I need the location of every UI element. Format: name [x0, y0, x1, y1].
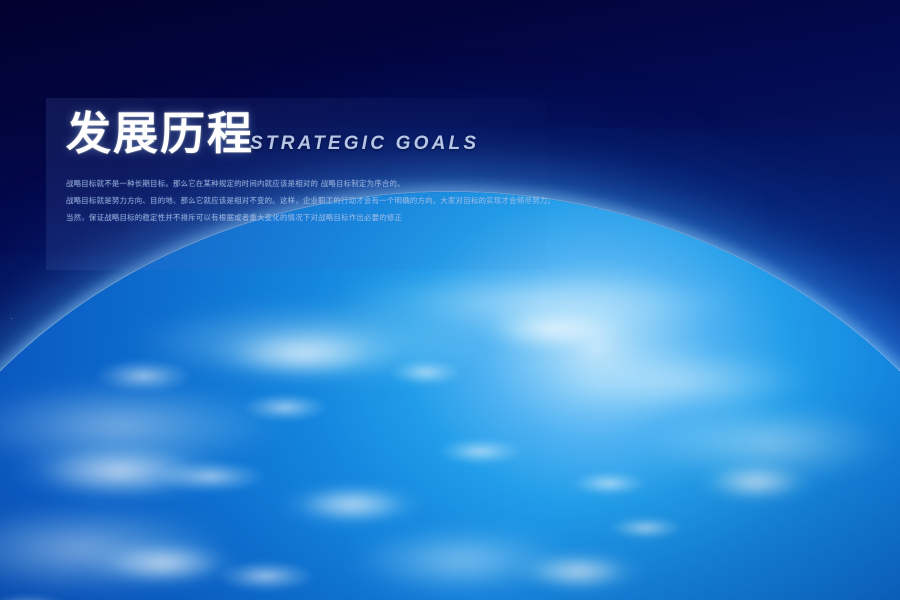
- title-row: 发展历程 STRATEGIC GOALS: [66, 112, 586, 157]
- strategic-goals-banner: 发展历程 STRATEGIC GOALS 战略目标就不是一种长期目标。那么它在某…: [0, 0, 900, 600]
- body-copy-line: 战略目标就是努力方向、目的地、那么它就应该是相对不变的。这样，企业职工的行动才会…: [66, 192, 586, 209]
- headline-text-block: 发展历程 STRATEGIC GOALS 战略目标就不是一种长期目标。那么它在某…: [66, 112, 586, 226]
- page-title: 发展历程: [66, 112, 254, 157]
- body-copy-line: 当然，保证战略目标的稳定性并不排斥可以有根据或者重大变化的情况下对战略目标作出必…: [66, 209, 586, 226]
- body-copy-line: 战略目标就不是一种长期目标。那么它在某种规定的时间内就应该是相对的 战略目标制定…: [66, 175, 586, 192]
- body-copy: 战略目标就不是一种长期目标。那么它在某种规定的时间内就应该是相对的 战略目标制定…: [66, 175, 586, 226]
- page-subtitle: STRATEGIC GOALS: [250, 133, 479, 157]
- space-background: [0, 0, 900, 600]
